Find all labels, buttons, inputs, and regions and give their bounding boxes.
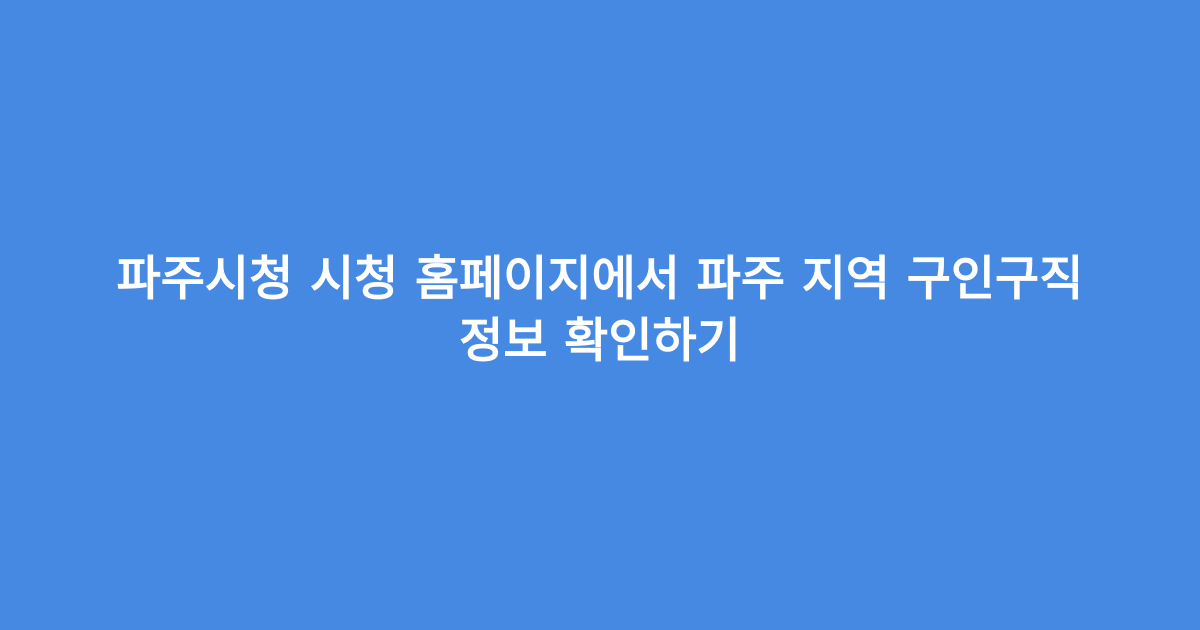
og-card: 파주시청 시청 홈페이지에서 파주 지역 구인구직 정보 확인하기 [0,0,1200,630]
page-title: 파주시청 시청 홈페이지에서 파주 지역 구인구직 정보 확인하기 [70,248,1130,372]
title-line-1: 파주시청 시청 홈페이지에서 파주 지역 구인구직 [80,248,1120,310]
title-line-2: 정보 확인하기 [80,310,1120,372]
